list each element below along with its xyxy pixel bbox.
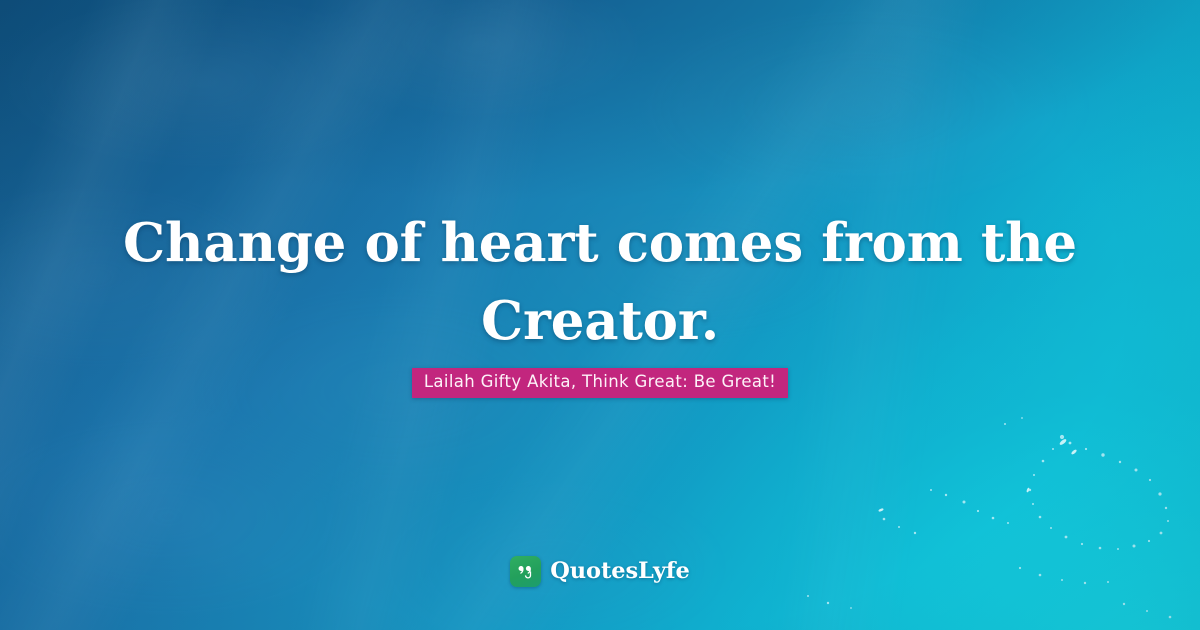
quote-text: Change of heart comes from the Creator. — [0, 204, 1200, 360]
quote-card: Change of heart comes from the Creator. … — [0, 0, 1200, 630]
attribution-row: Lailah Gifty Akita, Think Great: Be Grea… — [0, 368, 1200, 398]
attribution-badge: Lailah Gifty Akita, Think Great: Be Grea… — [412, 368, 788, 398]
card-content: Change of heart comes from the Creator. … — [0, 0, 1200, 630]
quote-mark-icon — [510, 556, 541, 587]
logo-wordmark: QuotesLyfe — [550, 560, 689, 583]
site-logo: QuotesLyfe — [0, 556, 1200, 587]
